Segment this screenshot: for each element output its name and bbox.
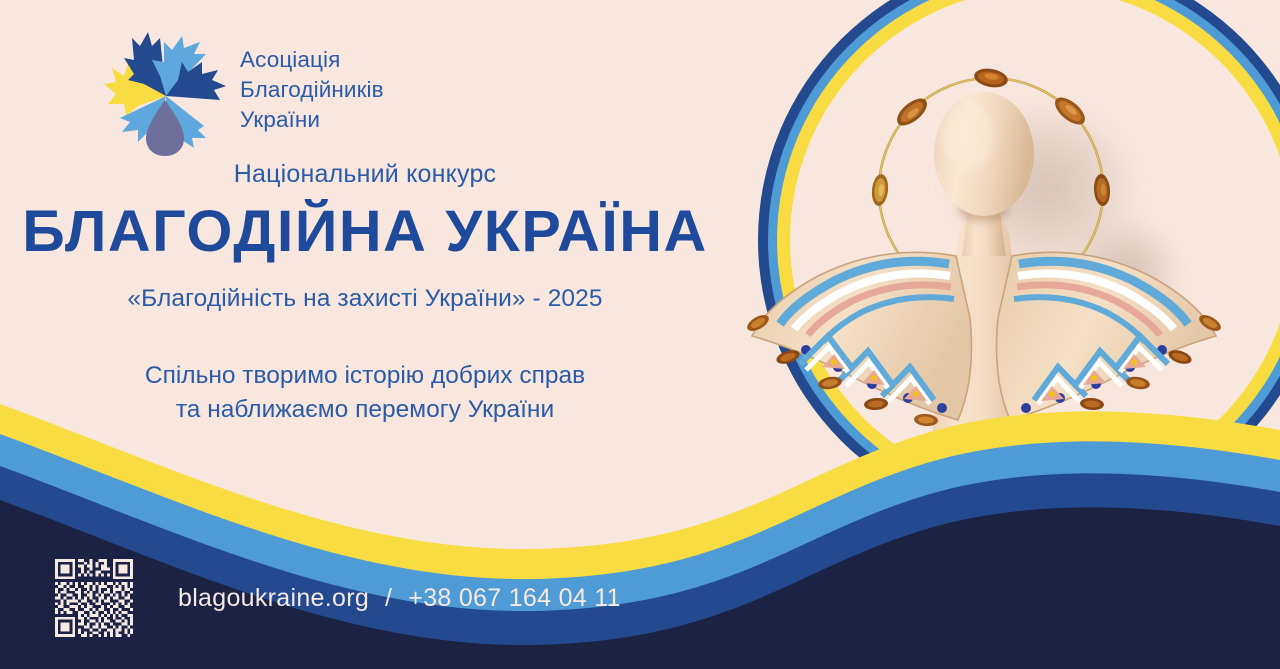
logo-line-2: Благодійників (240, 75, 384, 105)
footer-bar: blagoukraine.org / +38 067 164 04 11 (52, 556, 621, 640)
website-link[interactable]: blagoukraine.org (178, 584, 369, 613)
maple-leaf-logo-icon (94, 24, 226, 156)
slogan-text: Спільно творимо історію добрих справ та … (0, 359, 730, 427)
logo-text-block: Асоціація Благодійників України (240, 45, 384, 135)
phone-number[interactable]: +38 067 164 04 11 (408, 584, 620, 613)
subtitle-text: «Благодійність на захисті України» - 202… (0, 285, 730, 313)
slogan-line-1: Спільно творимо історію добрих справ (0, 359, 730, 393)
slogan-line-2: та наближаємо перемогу України (0, 393, 730, 427)
headline-block: Національний конкурс БЛАГОДІЙНА УКРАЇНА … (0, 160, 730, 427)
page-title: БЛАГОДІЙНА УКРАЇНА (0, 203, 737, 261)
logo-line-1: Асоціація (240, 45, 384, 75)
kicker-text: Національний конкурс (0, 160, 730, 189)
qr-code[interactable] (52, 556, 136, 640)
logo-line-3: України (240, 105, 384, 135)
contact-separator: / (369, 584, 408, 613)
organization-logo[interactable]: Асоціація Благодійників України (94, 22, 414, 158)
banner-canvas: Асоціація Благодійників України Націонал… (0, 0, 1280, 669)
contact-info: blagoukraine.org / +38 067 164 04 11 (178, 584, 621, 613)
